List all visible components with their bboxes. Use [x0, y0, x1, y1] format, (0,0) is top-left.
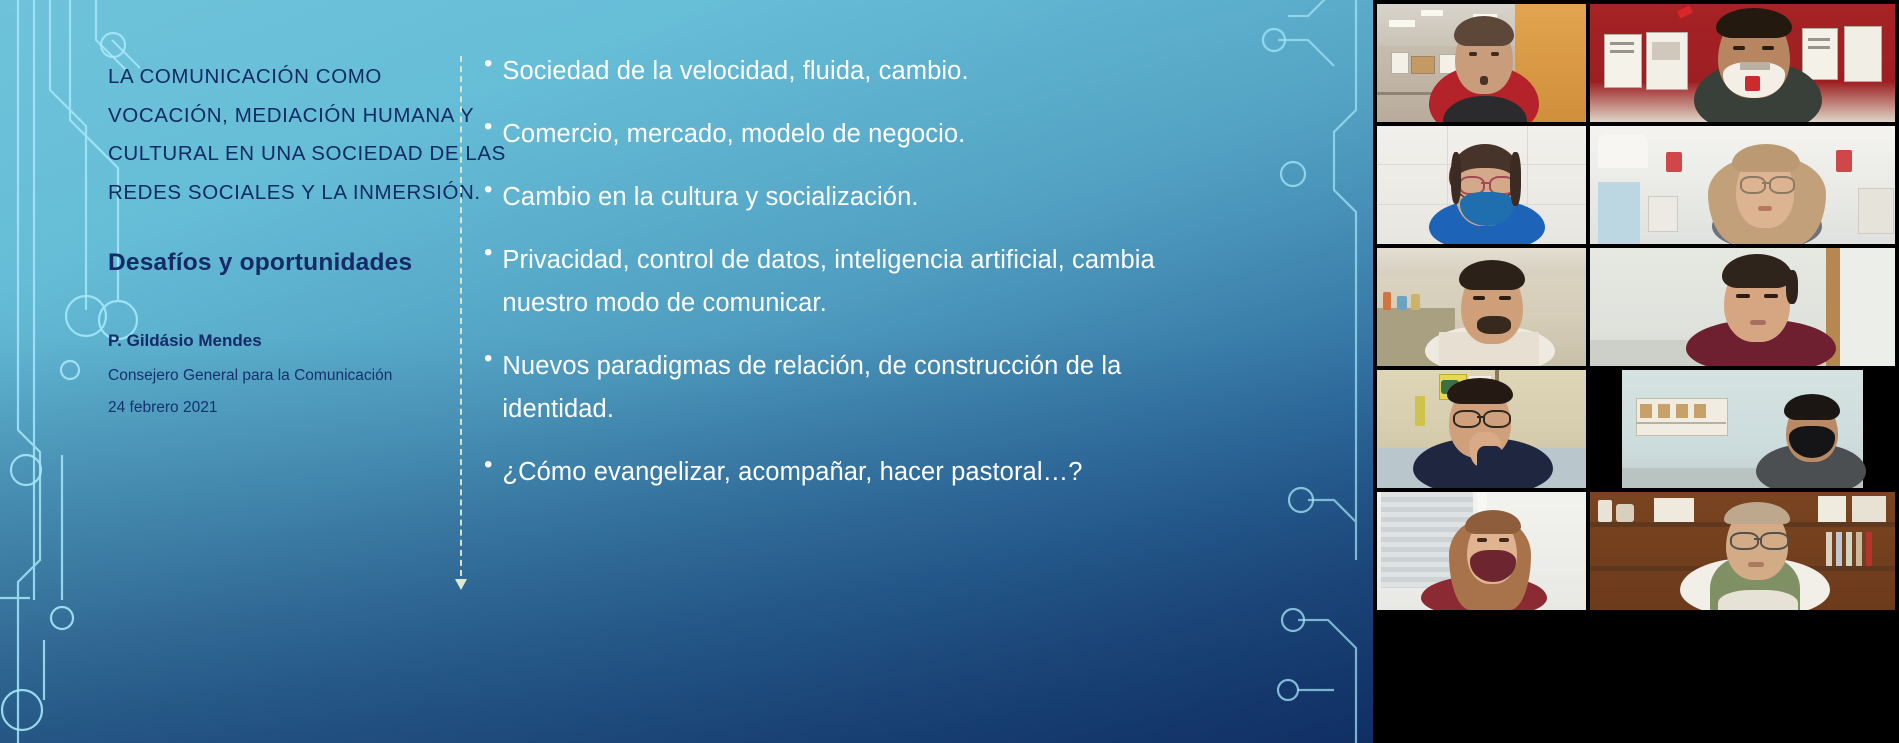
list-item: • ¿Cómo evangelizar, acompañar, hacer pa… — [484, 451, 1223, 494]
participant-tile[interactable] — [1590, 4, 1895, 122]
participant-tile[interactable] — [1590, 126, 1895, 244]
participant-tile[interactable] — [1377, 248, 1586, 366]
dashed-divider-line — [460, 56, 462, 576]
list-item: • Comercio, mercado, modelo de negocio. — [484, 113, 1223, 156]
list-item-text: ¿Cómo evangelizar, acompañar, hacer past… — [502, 451, 1082, 494]
slide-title-line-4: REDES SOCIALES Y LA INMERSIÓN. — [108, 174, 460, 213]
bullet-marker-icon: • — [484, 239, 492, 267]
participant-tile[interactable] — [1377, 126, 1586, 244]
list-item-text: Sociedad de la velocidad, fluida, cambio… — [502, 50, 968, 93]
participant-tile[interactable] — [1377, 492, 1586, 610]
participant-tile[interactable] — [1590, 492, 1895, 610]
participant-tile[interactable] — [1590, 370, 1895, 488]
screen-root: LA COMUNICACIÓN COMO VOCACIÓN, MEDIACIÓN… — [0, 0, 1899, 743]
bullet-marker-icon: • — [484, 113, 492, 141]
bullet-marker-icon: • — [484, 50, 492, 78]
bullet-marker-icon: • — [484, 345, 492, 373]
presentation-date: 24 febrero 2021 — [108, 399, 460, 417]
presenter-role: Consejero General para la Comunicación — [108, 365, 460, 386]
list-item: • Privacidad, control de datos, intelige… — [484, 239, 1223, 325]
list-item: • Nuevos paradigmas de relación, de cons… — [484, 345, 1223, 431]
presenter-name: P. Gildásio Mendes — [108, 331, 460, 351]
arrow-down-icon — [455, 579, 467, 590]
slide-title-line-1: LA COMUNICACIÓN COMO — [108, 58, 460, 97]
list-item-text: Comercio, mercado, modelo de negocio. — [502, 113, 965, 156]
participant-tile[interactable] — [1377, 4, 1586, 122]
participant-tile[interactable] — [1590, 248, 1895, 366]
list-item-text: Cambio en la cultura y socialización. — [502, 176, 918, 219]
bullet-marker-icon: • — [484, 176, 492, 204]
slide-title-line-3: CULTURAL EN UNA SOCIEDAD DE LAS — [108, 135, 460, 174]
participant-tile[interactable] — [1377, 370, 1586, 488]
list-item: • Sociedad de la velocidad, fluida, camb… — [484, 50, 1223, 93]
presentation-slide: LA COMUNICACIÓN COMO VOCACIÓN, MEDIACIÓN… — [0, 0, 1373, 743]
slide-title-block: LA COMUNICACIÓN COMO VOCACIÓN, MEDIACIÓN… — [108, 58, 460, 417]
slide-subtitle: Desafíos y oportunidades — [108, 249, 460, 277]
list-item: • Cambio en la cultura y socialización. — [484, 176, 1223, 219]
video-participant-grid — [1373, 0, 1899, 743]
slide-title-line-2: VOCACIÓN, MEDIACIÓN HUMANA Y — [108, 97, 460, 136]
list-item-text: Privacidad, control de datos, inteligenc… — [502, 239, 1223, 325]
dashed-divider — [460, 56, 462, 576]
slide-title: LA COMUNICACIÓN COMO VOCACIÓN, MEDIACIÓN… — [108, 58, 460, 212]
slide-bullet-list: • Sociedad de la velocidad, fluida, camb… — [484, 50, 1223, 514]
list-item-text: Nuevos paradigmas de relación, de constr… — [502, 345, 1223, 431]
bullet-marker-icon: • — [484, 451, 492, 479]
